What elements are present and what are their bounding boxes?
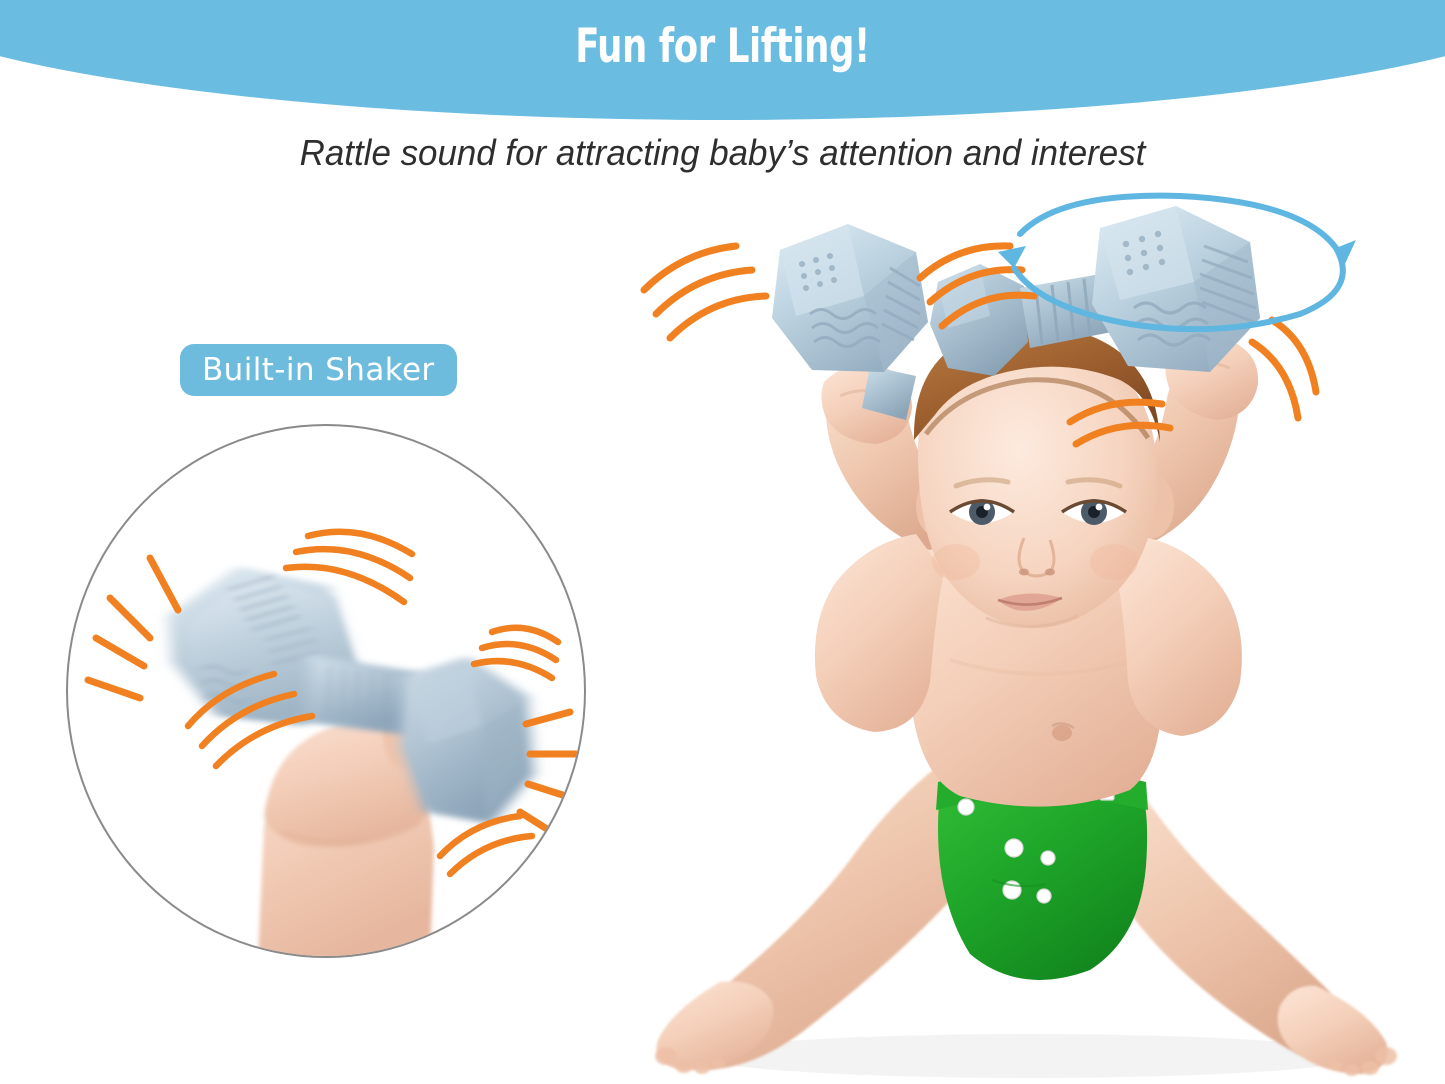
baby-lifting-illustration	[600, 190, 1445, 1084]
hero-photo	[600, 190, 1445, 1084]
header-banner: Fun for Lifting!	[0, 0, 1445, 140]
shaker-closeup-circle	[66, 424, 586, 958]
badge-label: Built-in Shaker	[202, 352, 435, 388]
shaker-closeup-illustration	[68, 426, 586, 958]
page-title: Fun for Lifting!	[116, 22, 1330, 71]
subheading-text: Rattle sound for attracting baby’s atten…	[22, 132, 1424, 174]
built-in-shaker-badge: Built-in Shaker	[180, 344, 457, 396]
infographic-page: Fun for Lifting! Rattle sound for attrac…	[0, 0, 1445, 1084]
